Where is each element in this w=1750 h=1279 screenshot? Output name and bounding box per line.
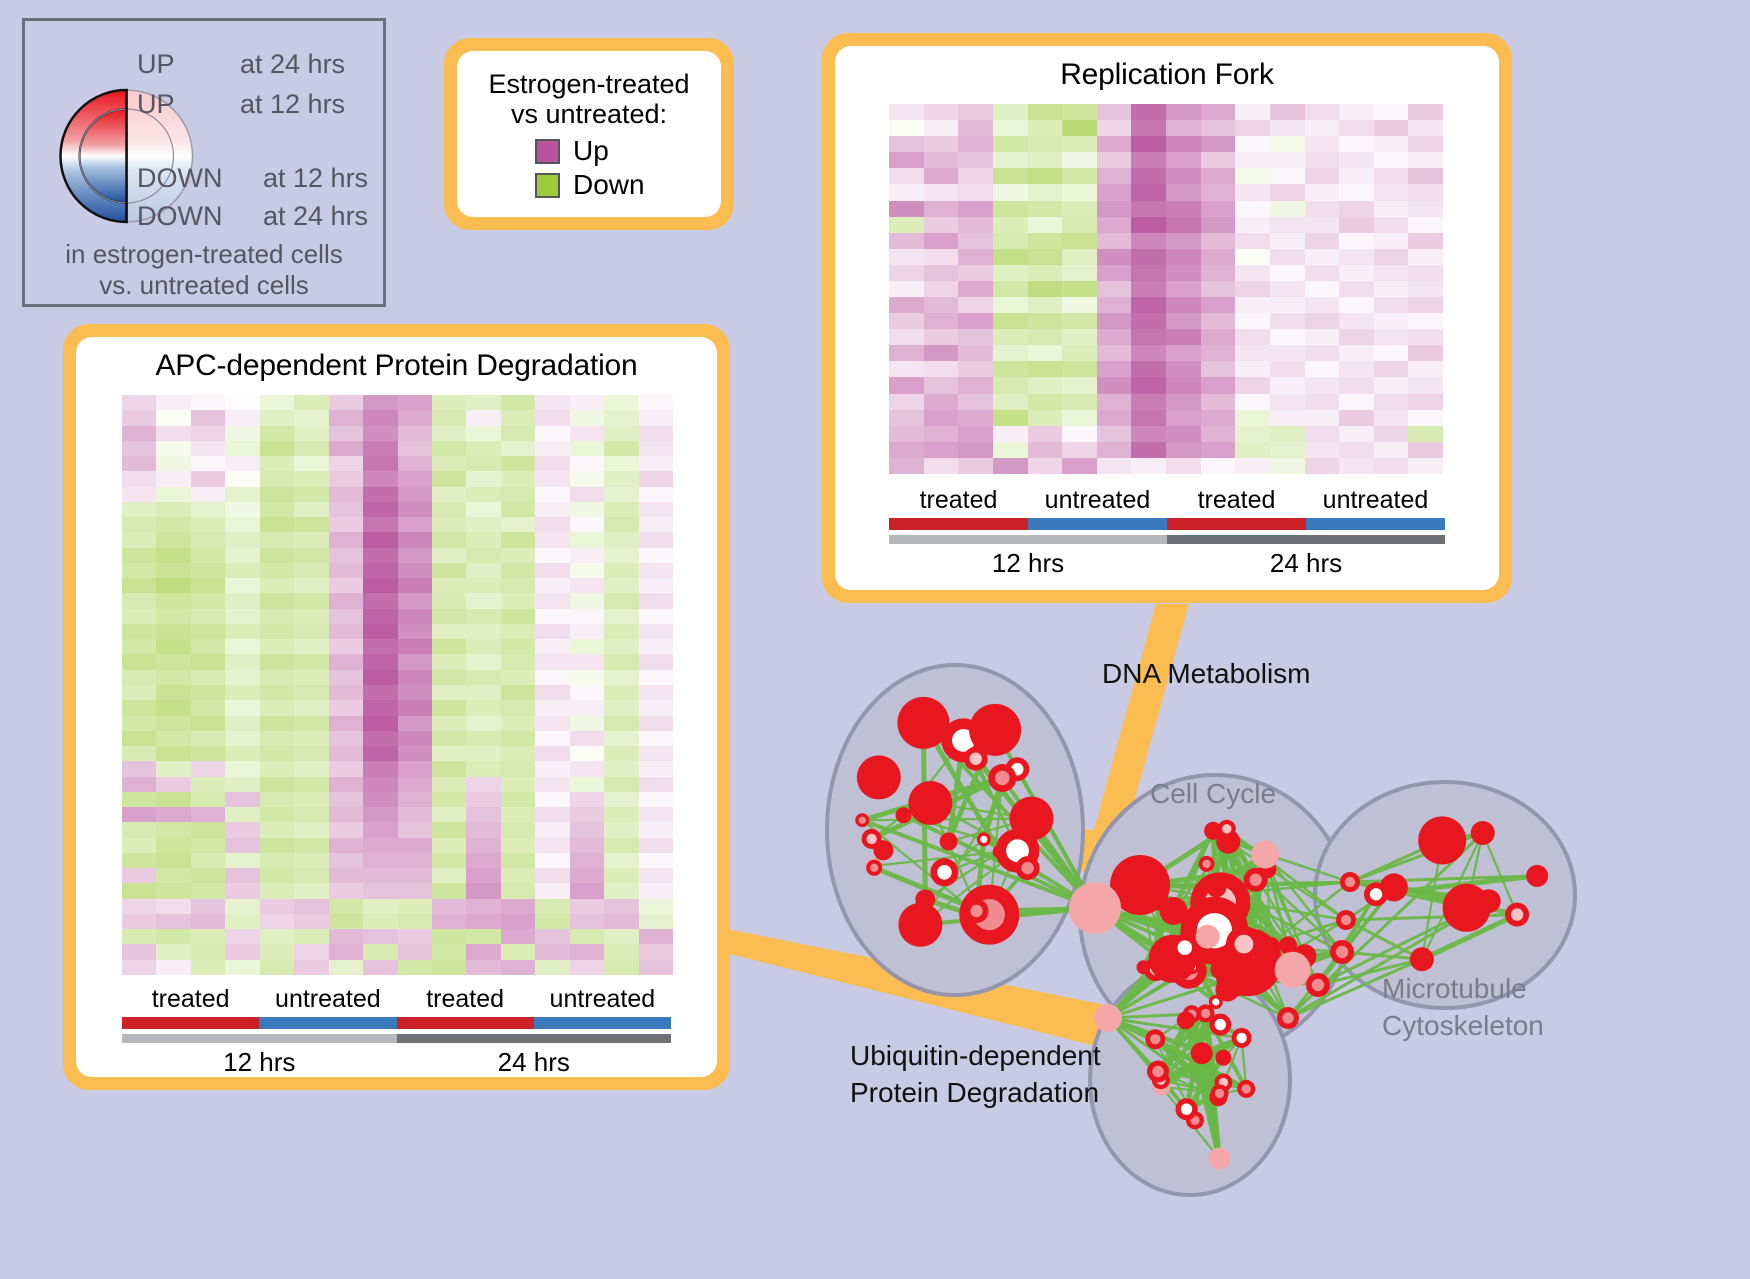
group-bar-0	[889, 518, 1028, 530]
network-node[interactable]	[1251, 841, 1279, 869]
network-node-core	[1201, 1009, 1210, 1018]
network-node[interactable]	[1410, 947, 1434, 971]
replication-fork-group-bars	[889, 518, 1445, 530]
group-bar-1	[259, 1017, 396, 1029]
network-node-core	[859, 817, 866, 824]
key-dir-2: DOWN	[137, 163, 222, 193]
network-node-core	[1235, 935, 1254, 954]
network-node-core	[980, 836, 987, 843]
network-node[interactable]	[896, 807, 912, 823]
group-label-1: untreated	[259, 985, 396, 1014]
group-bar-1	[1028, 518, 1167, 530]
network-node[interactable]	[940, 833, 958, 851]
legend-panel: Estrogen-treated vs untreated: Up Down	[444, 38, 734, 230]
network-node[interactable]	[969, 704, 1021, 756]
legend-items: Up Down	[457, 135, 721, 201]
replication-fork-heatmap	[889, 104, 1443, 474]
key-dir-1: UP	[137, 89, 175, 119]
replication-fork-time-bars	[889, 535, 1445, 544]
cluster-label-microtubule: Microtubule	[1382, 973, 1527, 1005]
replication-fork-title: Replication Fork	[835, 46, 1499, 92]
legend-label-down: Down	[573, 169, 645, 201]
network-node-core	[1178, 940, 1193, 955]
network-node-core	[1336, 946, 1348, 958]
time-label-0: 12 hrs	[889, 548, 1167, 579]
network-node-core	[1202, 860, 1210, 868]
group-bar-3	[1306, 518, 1445, 530]
network-node[interactable]	[1206, 877, 1226, 897]
cluster-label-ubiquitin-line1: Ubiquitin-dependent	[850, 1040, 1101, 1072]
network-node[interactable]	[1471, 821, 1495, 845]
group-label-3: untreated	[534, 985, 671, 1014]
group-label-2: treated	[1167, 486, 1306, 515]
network-node[interactable]	[1275, 952, 1311, 988]
network-node[interactable]	[1191, 1042, 1213, 1064]
network-node-core	[937, 865, 952, 880]
group-bar-2	[397, 1017, 534, 1029]
legend-item-up: Up	[535, 135, 721, 167]
replication-fork-panel: Replication Fork treateduntreatedtreated…	[822, 33, 1512, 603]
network-node[interactable]	[1526, 865, 1548, 887]
apc-heatmap	[122, 395, 673, 975]
network-node[interactable]	[1279, 936, 1297, 954]
group-label-1: untreated	[1028, 486, 1167, 515]
apc-time-labels: 12 hrs24 hrs	[122, 1047, 671, 1078]
legend-swatch-up	[535, 139, 560, 164]
network-node[interactable]	[1069, 882, 1121, 934]
apc-title: APC-dependent Protein Degradation	[76, 337, 717, 383]
group-label-0: treated	[122, 985, 259, 1014]
legend-title-line2: vs untreated:	[457, 99, 721, 129]
key-time-1: at 12 hrs	[240, 89, 345, 119]
network-node[interactable]	[1196, 925, 1220, 949]
network-diagram: DNA Metabolism Cell Cycle Microtubule Cy…	[790, 620, 1750, 1279]
network-node-core	[1312, 979, 1324, 991]
network-node[interactable]	[1094, 1004, 1122, 1032]
network-node-core	[1345, 877, 1355, 887]
key-caption-line2: vs. untreated cells	[25, 270, 383, 301]
apc-time-bars	[122, 1034, 671, 1043]
network-node[interactable]	[1208, 1148, 1230, 1170]
network-node-core	[1215, 1019, 1226, 1030]
network-node[interactable]	[1215, 1050, 1231, 1066]
legend-swatch-down	[535, 173, 560, 198]
time-bar-0	[122, 1034, 397, 1043]
network-node-core	[1152, 1066, 1163, 1077]
network-node-core	[970, 753, 982, 765]
key-caption: in estrogen-treated cells vs. untreated …	[25, 239, 383, 300]
time-bar-0	[889, 535, 1167, 544]
network-node-core	[1021, 862, 1033, 874]
network-node[interactable]	[1216, 961, 1252, 997]
time-bar-1	[397, 1034, 672, 1043]
replication-fork-group-labels: treateduntreatedtreateduntreated	[889, 486, 1445, 515]
network-node-core	[1236, 1033, 1246, 1043]
network-node-core	[1341, 915, 1351, 925]
cluster-label-cell-cycle: Cell Cycle	[1150, 778, 1276, 810]
network-node-core	[866, 834, 876, 844]
time-bar-1	[1167, 535, 1445, 544]
time-label-0: 12 hrs	[122, 1047, 397, 1078]
group-bar-0	[122, 1017, 259, 1029]
network-node[interactable]	[898, 903, 942, 947]
group-label-2: treated	[397, 985, 534, 1014]
network-node-core	[1212, 998, 1219, 1005]
network-node[interactable]	[1137, 960, 1151, 974]
key-time-2: at 12 hrs	[263, 163, 368, 193]
network-node[interactable]	[857, 755, 901, 799]
legend-item-down: Down	[535, 169, 721, 201]
time-label-1: 24 hrs	[1167, 548, 1445, 579]
network-node-core	[870, 864, 878, 872]
cluster-label-ubiquitin-line2: Protein Degradation	[850, 1077, 1099, 1109]
network-node-core	[970, 905, 982, 917]
legend-title: Estrogen-treated vs untreated:	[457, 51, 721, 129]
group-label-0: treated	[889, 486, 1028, 515]
key-box: UP at 24 hrs UP at 12 hrs DOWN at 12 hrs…	[22, 18, 386, 307]
cluster-label-cytoskeleton: Cytoskeleton	[1382, 1010, 1544, 1042]
legend-label-up: Up	[573, 135, 609, 167]
group-bar-2	[1167, 518, 1306, 530]
network-node-core	[1370, 888, 1382, 900]
apc-group-labels: treateduntreatedtreateduntreated	[122, 985, 671, 1014]
network-node[interactable]	[908, 781, 952, 825]
network-node-core	[1150, 1034, 1160, 1044]
network-node-core	[1511, 908, 1523, 920]
key-dir-3: DOWN	[137, 201, 222, 231]
replication-fork-time-labels: 12 hrs24 hrs	[889, 548, 1445, 579]
key-time-3: at 24 hrs	[263, 201, 368, 231]
apc-panel: APC-dependent Protein Degradation treate…	[63, 324, 730, 1090]
network-node-core	[1222, 824, 1231, 833]
network-node[interactable]	[1418, 816, 1466, 864]
key-caption-line1: in estrogen-treated cells	[25, 239, 383, 270]
network-node-core	[1282, 1012, 1293, 1023]
key-dir-0: UP	[137, 49, 175, 79]
key-time-0: at 24 hrs	[240, 49, 345, 79]
apc-group-bars	[122, 1017, 671, 1029]
network-node[interactable]	[1260, 937, 1280, 957]
network-node[interactable]	[1177, 1011, 1195, 1029]
network-node[interactable]	[1477, 889, 1501, 913]
network-node-core	[1242, 1084, 1251, 1093]
network-node-core	[1249, 874, 1261, 886]
group-label-3: untreated	[1306, 486, 1445, 515]
legend-title-line1: Estrogen-treated	[457, 69, 721, 99]
time-label-1: 24 hrs	[397, 1047, 672, 1078]
network-node-core	[995, 771, 1010, 786]
cluster-label-dna-metabolism: DNA Metabolism	[1102, 658, 1311, 690]
group-bar-3	[534, 1017, 671, 1029]
network-node-core	[1215, 1089, 1224, 1098]
network-node-core	[1181, 1104, 1192, 1115]
